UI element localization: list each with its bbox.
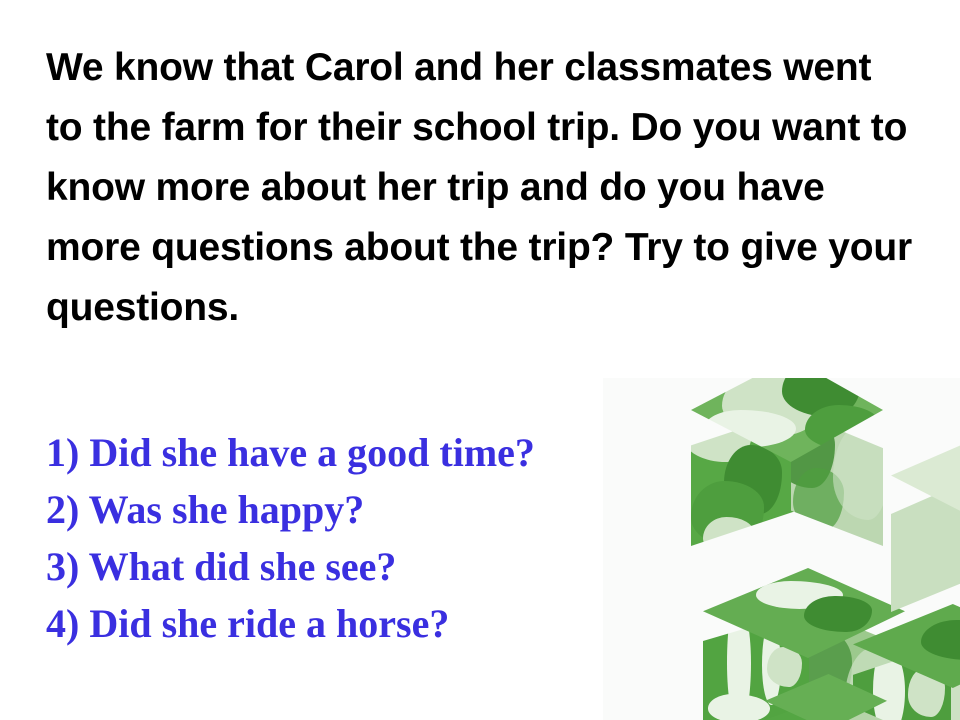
question-item-4: 4) Did she ride a horse? (46, 595, 666, 652)
question-item-1: 1) Did she have a good time? (46, 424, 666, 481)
cube-bottom-small-face-top (765, 674, 887, 720)
intro-paragraph: We know that Carol and her classmates we… (46, 38, 914, 338)
question-list: 1) Did she have a good time? 2) Was she … (46, 424, 666, 652)
cube-bottom-small (765, 674, 885, 720)
cube-right-edge (891, 436, 960, 626)
slide-canvas: We know that Carol and her classmates we… (0, 0, 960, 720)
question-item-3: 3) What did she see? (46, 538, 666, 595)
question-item-2: 2) Was she happy? (46, 481, 666, 538)
cube-main (691, 378, 881, 588)
